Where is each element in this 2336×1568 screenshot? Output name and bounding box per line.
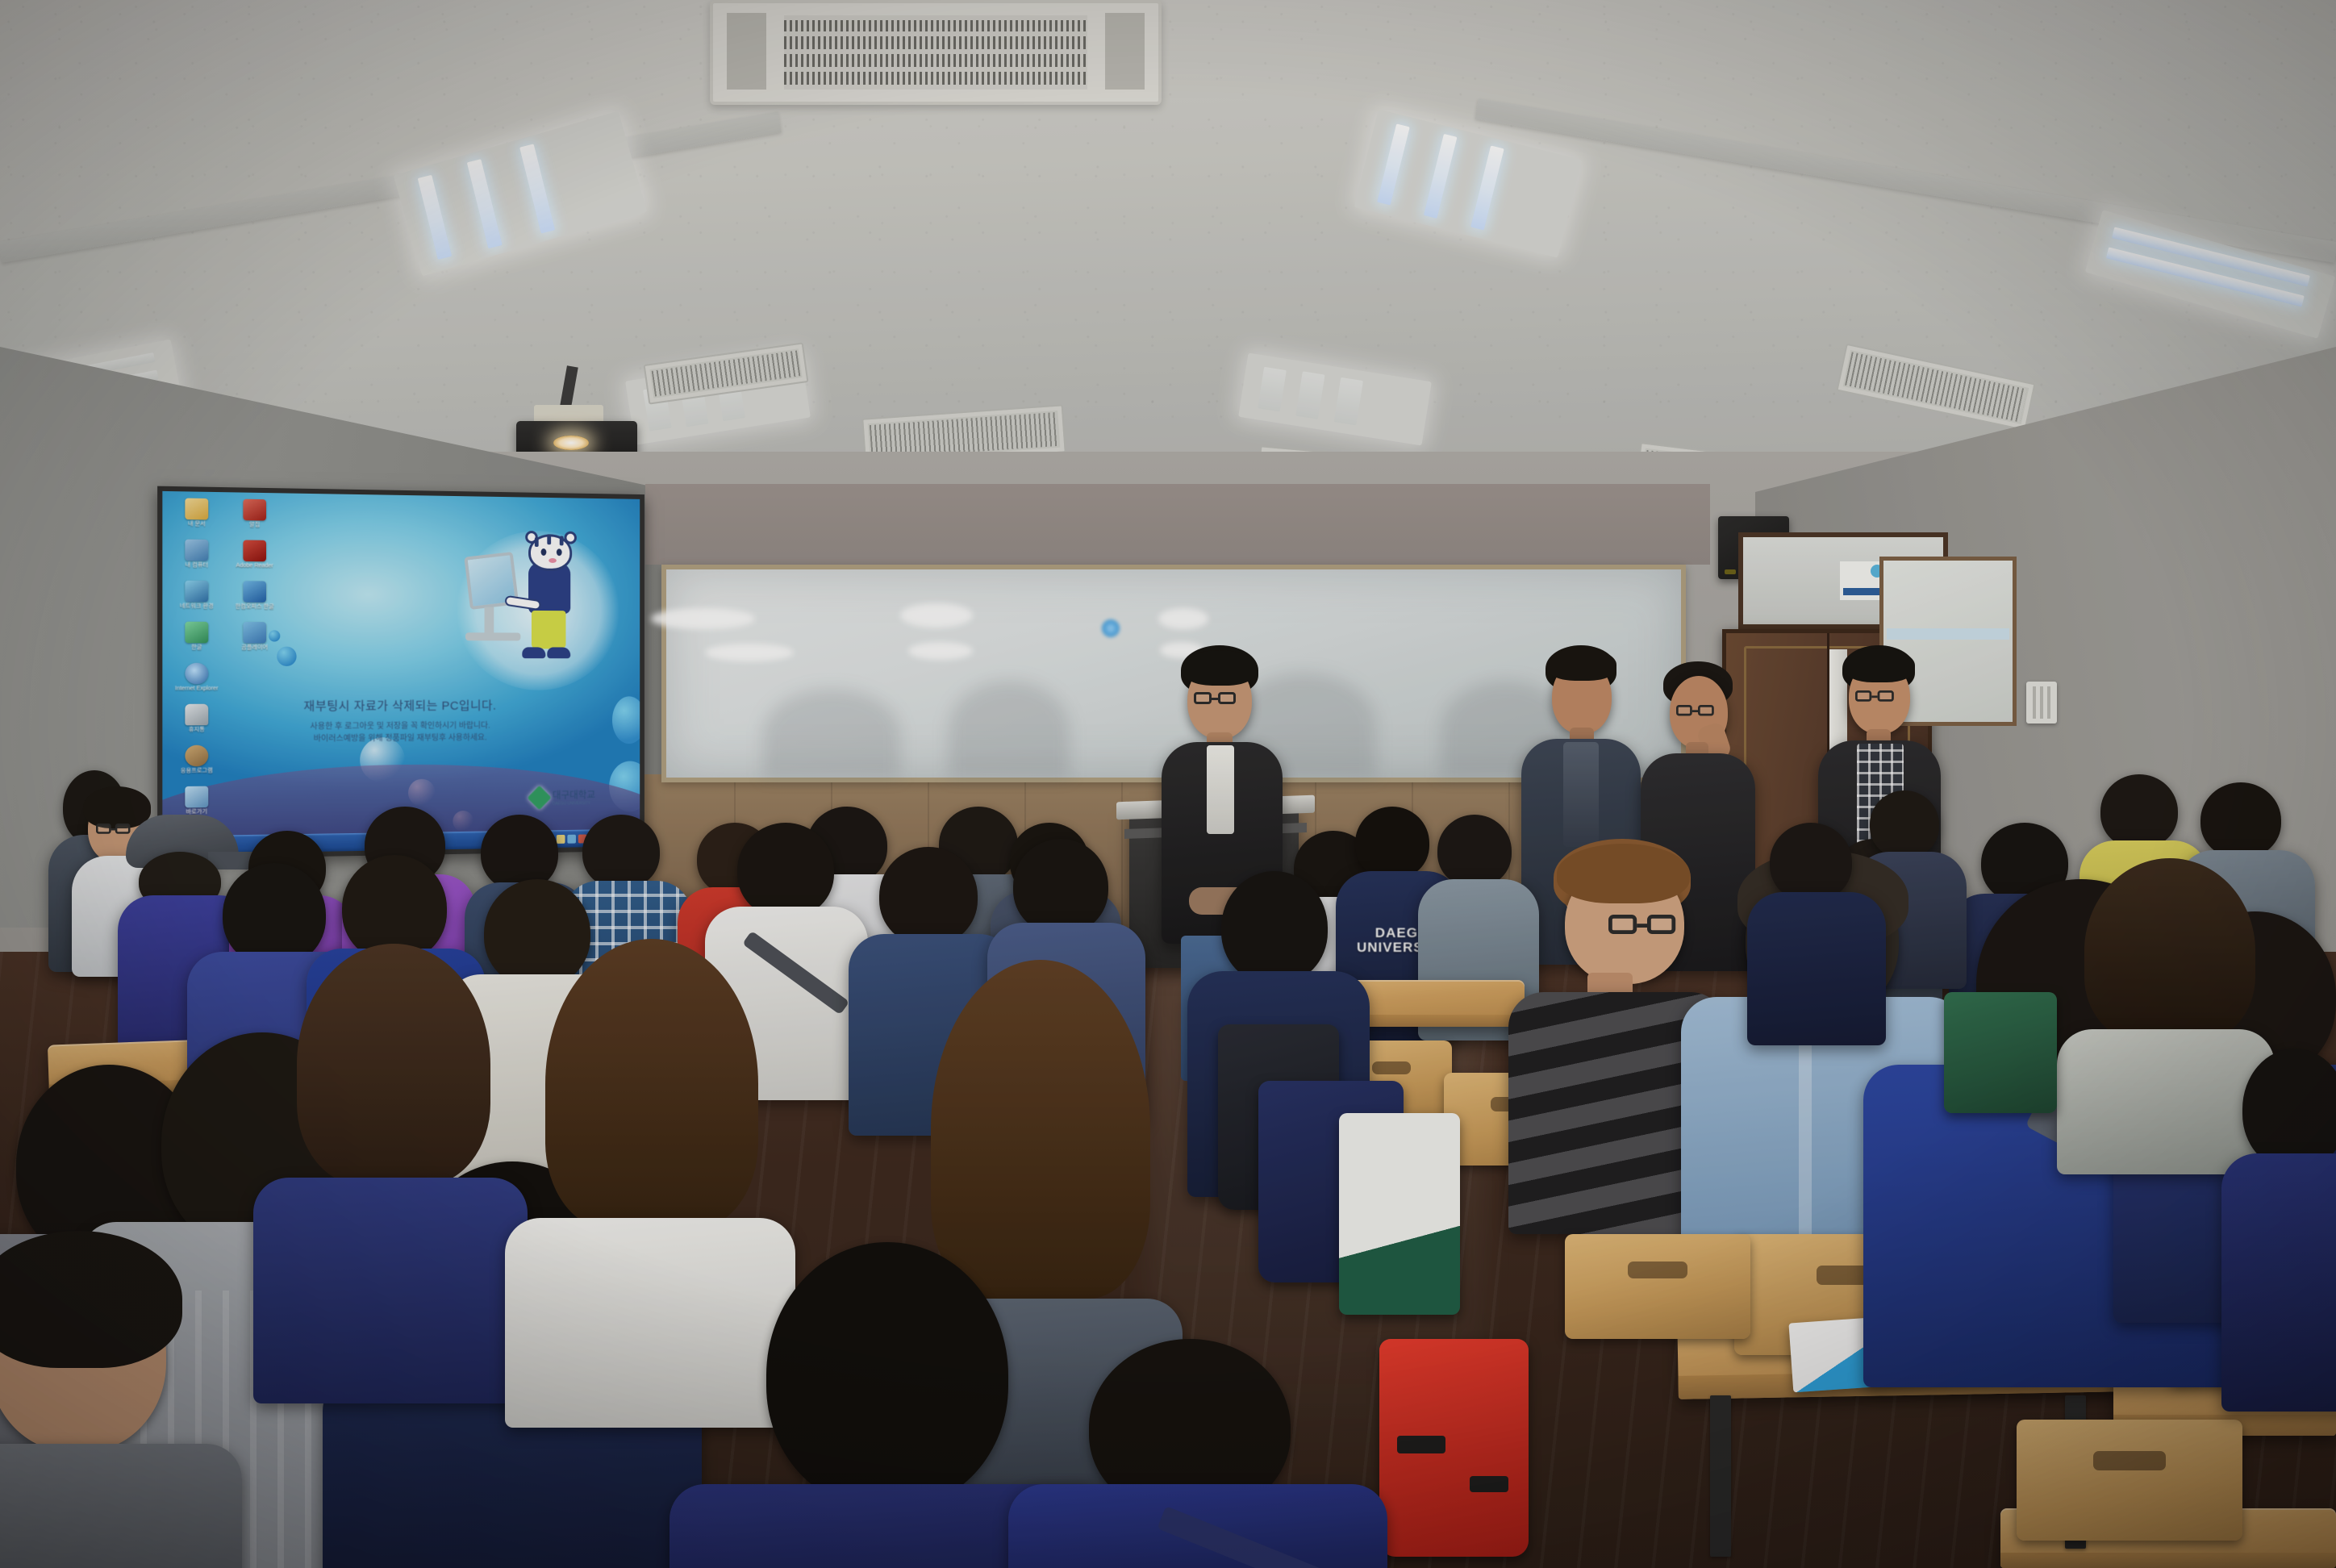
desktop-icon[interactable]: 네트워크 환경	[169, 580, 224, 610]
student-front-left-2	[0, 1258, 218, 1568]
student-right-mid-1	[1750, 823, 1879, 1016]
desktop-icon[interactable]: Internet Explorer	[169, 663, 224, 693]
desktop-icon[interactable]: 응용프로그램	[169, 745, 224, 775]
desktop-icon[interactable]: 내 문서	[169, 498, 224, 528]
student-front-ponytail-left	[266, 960, 508, 1347]
notice-banner	[1843, 588, 1882, 595]
green-jacket-on-chair	[1944, 992, 2057, 1113]
ac-vane-right	[1105, 13, 1145, 90]
ceiling-air-conditioner	[710, 0, 1162, 105]
wall-thermostat[interactable]	[2026, 682, 2057, 724]
projector-lens-icon	[553, 436, 589, 450]
shirt-seam	[1799, 1013, 1812, 1255]
student-right-edge	[2234, 1049, 2336, 1371]
presenter-shirt	[1207, 745, 1234, 834]
desktop-icon[interactable]: 알집	[227, 498, 282, 529]
desktop-icon[interactable]: Adobe Reader	[227, 540, 282, 569]
chair-back	[1565, 1234, 1750, 1339]
desktop-icon[interactable]: 바로가기	[169, 786, 224, 816]
student-front-blue-jacket	[1024, 1339, 1363, 1568]
university-name: 대구대학교	[553, 787, 595, 801]
notice-heading: 재부팅시 자료가 삭제되는 PC입니다.	[162, 696, 629, 715]
tiger-mascot-icon	[456, 530, 619, 690]
lecture-hall-photo: 내 문서 내 컴퓨터 네트워크 환경 한글	[0, 0, 2336, 1568]
backpack-buckle-icon	[1470, 1476, 1508, 1492]
desktop-icon-grid: 내 문서 내 컴퓨터 네트워크 환경 한글	[168, 498, 292, 500]
desk-leg	[1710, 1395, 1731, 1557]
projection-screen: 내 문서 내 컴퓨터 네트워크 환경 한글	[157, 486, 644, 860]
university-name-en: DAEGU UNIVERSITY	[553, 801, 595, 807]
backpack-buckle-icon	[1397, 1436, 1445, 1453]
notice-line-2: 바이러스예방을 위해 정품파일 재부팅후 사용하세요.	[162, 731, 629, 746]
ac-vane-left	[727, 13, 767, 90]
desktop-icon-column-2: 알집 Adobe Reader 한컴오피스 한글 곰플레이어	[227, 498, 282, 662]
desktop-icon-column-1: 내 문서 내 컴퓨터 네트워크 환경 한글	[169, 498, 224, 828]
desktop-icon[interactable]: 곰플레이어	[227, 622, 282, 652]
wall-upper-band	[645, 484, 1710, 565]
desktop-icon[interactable]: 한컴오피스 한글	[227, 581, 282, 611]
university-emblem-icon	[527, 785, 551, 810]
laser-pointer-dot-icon	[1102, 619, 1120, 637]
desktop-icon[interactable]: 한글	[169, 622, 224, 652]
backpack-red[interactable]	[1379, 1339, 1529, 1557]
desktop-icon[interactable]: 내 컴퓨터	[169, 539, 224, 569]
projected-desktop: 내 문서 내 컴퓨터 네트워크 환경 한글	[162, 491, 640, 854]
ac-grille	[784, 15, 1087, 90]
presenter-two-placket	[1563, 742, 1599, 847]
desktop-notice-text: 재부팅시 자료가 삭제되는 PC입니다. 사용한 후 로그아웃 및 저장을 꼭 …	[162, 696, 629, 746]
chair-back	[2017, 1420, 2242, 1541]
university-logo: 대구대학교 DAEGU UNIVERSITY	[531, 787, 595, 807]
varsity-jacket-on-chair	[1339, 1113, 1460, 1315]
